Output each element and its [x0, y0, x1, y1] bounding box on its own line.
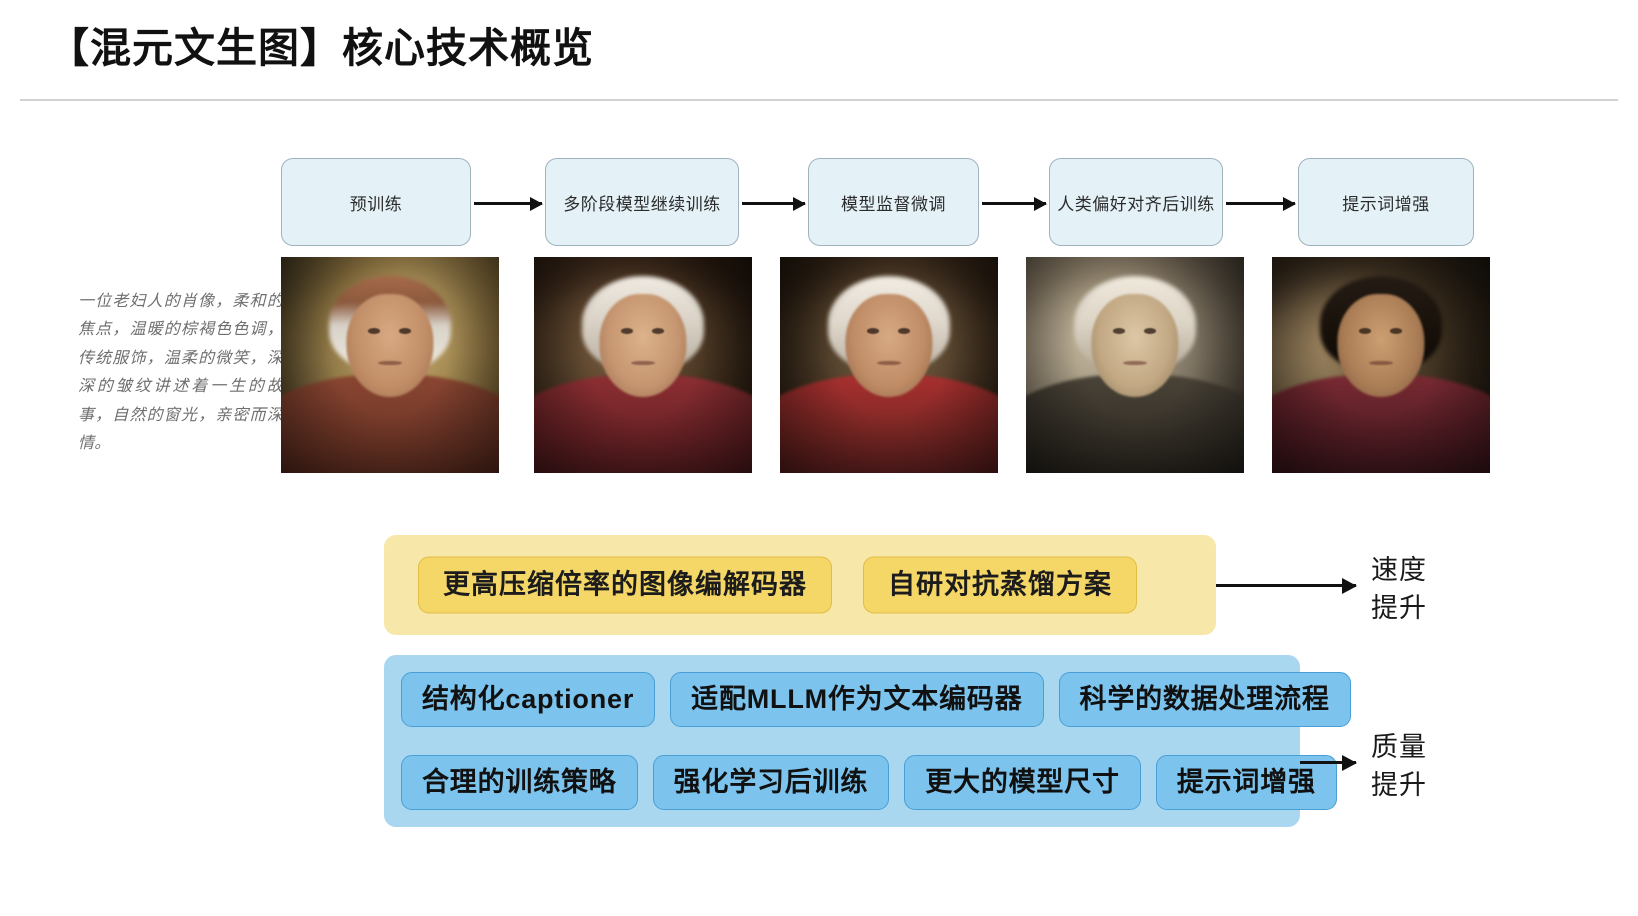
sample-portrait-3 — [780, 257, 998, 473]
sample-portrait-2 — [534, 257, 752, 473]
page-title: 【混元文生图】核心技术概览 — [48, 14, 594, 74]
pipeline-stage-3[interactable]: 模型监督微调 — [808, 158, 979, 246]
quality-pill-row-1: 结构化captioner 适配MLLM作为文本编码器 科学的数据处理流程 — [401, 672, 1283, 727]
pipeline-stage-1-label: 预训练 — [350, 190, 403, 215]
pipeline-arrow-1 — [474, 202, 542, 205]
pipeline-stage-3-label: 模型监督微调 — [841, 190, 946, 215]
pipeline-stage-5-label: 提示词增强 — [1342, 190, 1430, 215]
portrait-3-vignette — [780, 257, 998, 473]
pipeline-arrow-2 — [742, 202, 805, 205]
sample-image-row — [281, 257, 1527, 473]
quality-pill-2-3[interactable]: 更大的模型尺寸 — [904, 755, 1141, 810]
speed-outcome-label: 速度 提升 — [1371, 551, 1427, 628]
pipeline-stage-4-label: 人类偏好对齐后训练 — [1057, 190, 1215, 215]
pipeline-stage-5[interactable]: 提示词增强 — [1298, 158, 1474, 246]
quality-pill-1-3[interactable]: 科学的数据处理流程 — [1059, 672, 1351, 727]
prompt-caption: 一位老妇人的肖像，柔和的焦点，温暖的棕褐色色调，传统服饰，温柔的微笑，深深的皱纹… — [78, 288, 283, 459]
pipeline-stage-2[interactable]: 多阶段模型继续训练 — [545, 158, 739, 246]
portrait-4-vignette — [1026, 257, 1244, 473]
speed-pill-row: 更高压缩倍率的图像编解码器 自研对抗蒸馏方案 — [384, 556, 1216, 613]
quality-pill-2-2[interactable]: 强化学习后训练 — [653, 755, 890, 810]
speed-pill-2[interactable]: 自研对抗蒸馏方案 — [863, 556, 1137, 613]
quality-pill-row-2: 合理的训练策略 强化学习后训练 更大的模型尺寸 提示词增强 — [401, 755, 1283, 810]
speed-improvements-panel: 更高压缩倍率的图像编解码器 自研对抗蒸馏方案 — [384, 535, 1216, 635]
speed-pill-1[interactable]: 更高压缩倍率的图像编解码器 — [418, 556, 832, 613]
pipeline-stage-2-label: 多阶段模型继续训练 — [563, 190, 721, 215]
speed-outcome-arrow — [1216, 584, 1356, 587]
sample-portrait-1 — [281, 257, 499, 473]
pipeline-stage-1[interactable]: 预训练 — [281, 158, 471, 246]
portrait-1-vignette — [281, 257, 499, 473]
training-pipeline: 预训练 多阶段模型继续训练 模型监督微调 人类偏好对齐后训练 提示词增强 — [281, 158, 1527, 248]
portrait-2-vignette — [534, 257, 752, 473]
title-divider — [20, 99, 1618, 101]
quality-outcome-arrow — [1300, 761, 1356, 764]
portrait-5-vignette — [1272, 257, 1490, 473]
sample-portrait-4 — [1026, 257, 1244, 473]
quality-improvements-panel: 结构化captioner 适配MLLM作为文本编码器 科学的数据处理流程 合理的… — [384, 655, 1300, 827]
quality-pill-2-1[interactable]: 合理的训练策略 — [401, 755, 638, 810]
quality-outcome-label: 质量 提升 — [1371, 728, 1427, 805]
pipeline-arrow-4 — [1226, 202, 1295, 205]
pipeline-arrow-3 — [982, 202, 1046, 205]
quality-pill-1-2[interactable]: 适配MLLM作为文本编码器 — [670, 672, 1043, 727]
pipeline-stage-4[interactable]: 人类偏好对齐后训练 — [1049, 158, 1223, 246]
sample-portrait-5 — [1272, 257, 1490, 473]
quality-pill-1-1[interactable]: 结构化captioner — [401, 672, 655, 727]
